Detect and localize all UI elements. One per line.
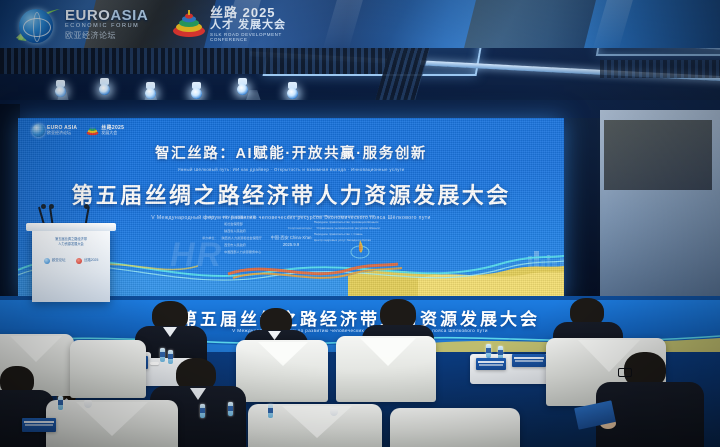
stage-right-wing	[566, 118, 602, 304]
stage-light-4	[191, 88, 202, 99]
tea-cup-lid-1	[150, 362, 159, 365]
podium-boat-icon	[76, 258, 82, 264]
name-placard-4[interactable]	[22, 418, 56, 432]
podium-top-edge	[26, 223, 116, 231]
silk-road-conference-logo: 丝路 2025 人才 发展大会 SILK ROAD DEVELOPMENT CO…	[172, 5, 307, 43]
water-bottle-1	[160, 348, 165, 362]
stage-light-1	[55, 86, 66, 97]
podium-logo-b: 丝路2025	[76, 258, 98, 264]
stage-light-5	[237, 84, 248, 95]
conference-hall-screenshot: EUROASIA ECONOMIC FORUM 欧亚经济论坛 丝路 2025 人…	[0, 0, 720, 447]
podium-globe-icon	[44, 258, 50, 264]
banner-brand-line3: 欧亚经济论坛	[65, 32, 148, 40]
podium-logo-a: 欧亚论坛	[44, 258, 66, 264]
audience-chair-2[interactable]	[70, 340, 146, 398]
water-bottle-5	[58, 396, 63, 410]
podium-logo-b-text: 丝路2025	[84, 259, 98, 263]
water-bottle-2	[168, 350, 173, 364]
audience-chair-front-3[interactable]	[390, 408, 520, 447]
banner-brand-line1: EUROASIA	[65, 8, 148, 23]
stage-light-3	[145, 88, 156, 99]
water-bottle-8	[268, 404, 273, 418]
eyeglasses-icon	[618, 368, 632, 377]
speaker-podium: 第五届丝绸之路经济带 人力资源发展大会 欧亚论坛 丝路2025	[32, 228, 110, 302]
water-bottle-6	[200, 404, 205, 418]
name-placard-2[interactable]	[512, 354, 546, 367]
stage-light-6	[287, 88, 298, 99]
name-placard-3[interactable]	[476, 358, 506, 370]
ceiling-coffer-2	[596, 48, 720, 56]
lighting-truss-left	[0, 48, 420, 74]
microphone-head-3	[84, 204, 89, 209]
banner-brand-line2: ECONOMIC FORUM	[65, 24, 148, 30]
right-wall-dark-panel	[604, 120, 712, 190]
globe-icon	[19, 9, 53, 43]
microphone-head-2	[49, 204, 54, 209]
venue-top-banner: EUROASIA ECONOMIC FORUM 欧亚经济论坛 丝路 2025 人…	[0, 0, 720, 48]
banner-sr-line1: 丝路 2025	[210, 6, 307, 19]
banner-sr-line3: SILK ROAD DEVELOPMENT CONFERENCE	[210, 33, 307, 42]
silk-road-boat-icon	[172, 9, 206, 39]
microphone-head-1	[41, 204, 46, 209]
podium-text-line2: 人力资源发展大会	[38, 242, 104, 247]
banner-sr-line2: 人才 发展大会	[210, 20, 307, 31]
water-bottle-7	[228, 402, 233, 416]
tea-cup-1	[84, 400, 92, 408]
tea-cup-2	[330, 408, 338, 416]
water-bottle-3	[486, 344, 491, 358]
stage-light-2	[99, 84, 110, 95]
euro-asia-forum-logo: EUROASIA ECONOMIC FORUM 欧亚经济论坛	[14, 4, 164, 44]
podium-logo-a-text: 欧亚论坛	[52, 259, 66, 263]
lighting-truss-right	[600, 60, 720, 78]
audience-area	[0, 296, 720, 447]
